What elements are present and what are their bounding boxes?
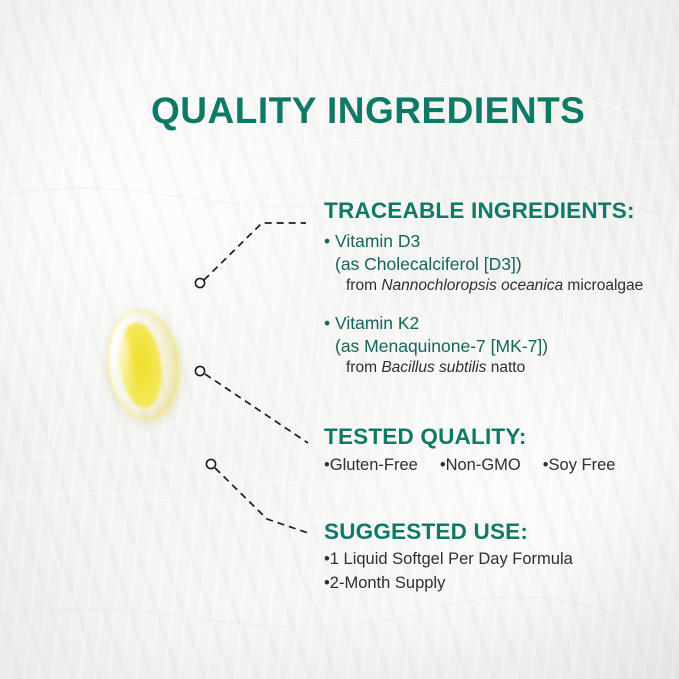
ingredient-source-vitamin-d3: from Nannochloropsis oceanica microalgae [324,277,643,295]
softgel-capsule [92,296,196,436]
quality-badge-row: •Gluten-Free•Non-GMO•Soy Free [324,456,616,475]
section-heading-traceable: TRACEABLE INGREDIENTS: [324,198,643,224]
suggested-use-line-2: •2-Month Supply [324,574,573,593]
source-species-k2: Bacillus subtilis [381,359,486,376]
source-prefix-d3: from [346,277,381,294]
section-tested-quality: TESTED QUALITY: •Gluten-Free•Non-GMO•Soy… [324,424,616,475]
page-title: QUALITY INGREDIENTS [151,90,585,132]
connector-dot-traceable [195,278,204,287]
section-heading-suggested-use: SUGGESTED USE: [324,519,573,545]
ingredient-form-vitamin-k2: (as Menaquinone-7 [MK-7]) [324,336,548,357]
connector-dot-suggested-use [206,459,215,468]
ingredient-source-vitamin-k2: from Bacillus subtilis natto [324,359,548,377]
source-suffix-k2: natto [486,359,525,376]
source-suffix-d3: microalgae [563,277,643,294]
source-prefix-k2: from [346,359,381,376]
quality-ingredients-infographic: QUALITY INGREDIENTS TRACEABLE INGREDIENT… [0,0,679,679]
quality-badge-gluten-free: •Gluten-Free [324,456,418,474]
suggested-use-line-1: •1 Liquid Softgel Per Day Formula [324,550,573,569]
connector-path-suggested-use [215,468,308,533]
section-heading-tested-quality: TESTED QUALITY: [324,424,616,450]
ingredient-form-vitamin-d3: (as Cholecalciferol [D3]) [324,254,643,275]
section-suggested-use: SUGGESTED USE: •1 Liquid Softgel Per Day… [324,519,573,593]
ingredient-bullet-vitamin-k2: • Vitamin K2 [324,313,548,334]
connector-dot-tested [195,366,204,375]
connector-path-traceable [204,223,306,280]
source-species-d3: Nannochloropsis oceanica [381,277,563,294]
section-vitamin-k2: • Vitamin K2 (as Menaquinone-7 [MK-7]) f… [324,313,548,377]
ingredient-bullet-vitamin-d3: • Vitamin D3 [324,231,643,252]
quality-badge-soy-free: •Soy Free [543,456,616,474]
connector-path-tested [205,374,308,443]
section-traceable-ingredients: TRACEABLE INGREDIENTS: • Vitamin D3 (as … [324,198,643,295]
quality-badge-non-gmo: •Non-GMO [440,456,521,474]
